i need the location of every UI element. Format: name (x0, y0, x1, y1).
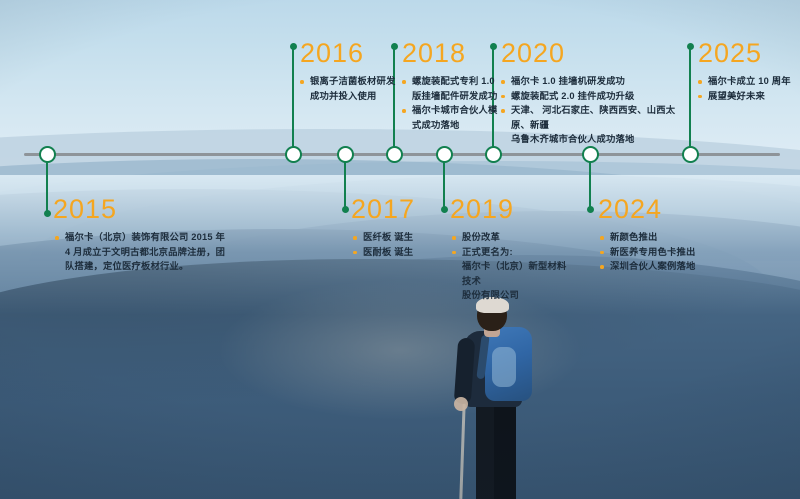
hiker-figure (432, 294, 562, 499)
hiker-hand (454, 397, 468, 411)
timeline-year-label: 2018 (402, 40, 512, 67)
timeline-stem-dot (342, 206, 349, 213)
timeline-bullet-list: 螺旋装配式专利 1.0 版挂墙配件研发成功福尔卡城市合伙人模 式成功落地 (402, 74, 512, 132)
timeline-year-label: 2017 (351, 196, 443, 223)
timeline-bullet-list: 新颜色推出新医养专用色卡推出深圳合伙人案例落地 (600, 230, 730, 274)
timeline-bullet: 福尔卡（北京）装饰有限公司 2015 年 4 月成立于文明古都北京品牌注册，团 … (55, 230, 230, 274)
timeline-stem-dot (687, 43, 694, 50)
timeline-entry-2018: 2018螺旋装配式专利 1.0 版挂墙配件研发成功福尔卡城市合伙人模 式成功落地 (402, 40, 512, 132)
timeline-bullet: 新医养专用色卡推出 (600, 245, 730, 260)
timeline-bullet: 正式更名为: 福尔卡（北京）新型材料技术 股份有限公司 (452, 245, 567, 303)
timeline-year-label: 2025 (698, 40, 800, 67)
timeline-year-label: 2015 (53, 196, 230, 223)
timeline-entry-2019: 2019股份改革正式更名为: 福尔卡（北京）新型材料技术 股份有限公司 (452, 196, 567, 303)
timeline-stem-dot (290, 43, 297, 50)
timeline-stem (292, 46, 295, 153)
timeline-node-2019[interactable] (436, 146, 453, 163)
timeline-bullet-list: 福尔卡 1.0 挂墙机研发成功螺旋装配式 2.0 挂件成功升级天津、 河北石家庄… (501, 74, 681, 147)
timeline-bullet: 福尔卡 1.0 挂墙机研发成功 (501, 74, 681, 89)
timeline-node-2025[interactable] (682, 146, 699, 163)
timeline-entry-2016: 2016银离子洁菌板材研发 成功并投入使用 (300, 40, 410, 103)
timeline-stem-dot (44, 210, 51, 217)
timeline-bullet: 展望美好未来 (698, 89, 800, 104)
timeline-bullet: 银离子洁菌板材研发 成功并投入使用 (300, 74, 410, 103)
timeline-bullet-list: 股份改革正式更名为: 福尔卡（北京）新型材料技术 股份有限公司 (452, 230, 567, 303)
timeline-bullet-list: 福尔卡（北京）装饰有限公司 2015 年 4 月成立于文明古都北京品牌注册，团 … (55, 230, 230, 274)
timeline-bullet: 螺旋装配式 2.0 挂件成功升级 (501, 89, 681, 104)
timeline-stem-dot (587, 206, 594, 213)
timeline-node-2016[interactable] (285, 146, 302, 163)
timeline-bullet: 福尔卡城市合伙人模 式成功落地 (402, 103, 512, 132)
timeline-bullet: 螺旋装配式专利 1.0 版挂墙配件研发成功 (402, 74, 512, 103)
timeline-node-2018[interactable] (386, 146, 403, 163)
trekking-pole (459, 403, 465, 499)
timeline-bullet: 深圳合伙人案例落地 (600, 259, 730, 274)
timeline-bullet: 股份改革 (452, 230, 567, 245)
timeline-entry-2020: 2020福尔卡 1.0 挂墙机研发成功螺旋装配式 2.0 挂件成功升级天津、 河… (501, 40, 681, 147)
timeline-bullet: 医耐板 诞生 (353, 245, 443, 260)
timeline-entry-2025: 2025福尔卡成立 10 周年展望美好未来 (698, 40, 800, 103)
backpack-panel (492, 347, 516, 387)
timeline-year-label: 2020 (501, 40, 681, 67)
timeline-bullet-list: 医纤板 诞生医耐板 诞生 (353, 230, 443, 259)
timeline-bullet-list: 福尔卡成立 10 周年展望美好未来 (698, 74, 800, 103)
timeline-year-label: 2024 (598, 196, 730, 223)
timeline-stem (689, 46, 692, 153)
timeline-node-2017[interactable] (337, 146, 354, 163)
timeline-entry-2015: 2015福尔卡（北京）装饰有限公司 2015 年 4 月成立于文明古都北京品牌注… (55, 196, 230, 274)
timeline-bullet: 福尔卡成立 10 周年 (698, 74, 800, 89)
timeline-entry-2024: 2024新颜色推出新医养专用色卡推出深圳合伙人案例落地 (600, 196, 730, 274)
timeline-node-2020[interactable] (485, 146, 502, 163)
timeline-bullet: 天津、 河北石家庄、陕西西安、山西太原、新疆 乌鲁木齐城市合伙人成功落地 (501, 103, 681, 147)
timeline-node-2015[interactable] (39, 146, 56, 163)
timeline-entry-2017: 2017医纤板 诞生医耐板 诞生 (353, 196, 443, 259)
timeline-bullet: 医纤板 诞生 (353, 230, 443, 245)
timeline-bullet: 新颜色推出 (600, 230, 730, 245)
timeline-bullet-list: 银离子洁菌板材研发 成功并投入使用 (300, 74, 410, 103)
timeline-year-label: 2019 (450, 196, 567, 223)
timeline-node-2024[interactable] (582, 146, 599, 163)
timeline-year-label: 2016 (300, 40, 410, 67)
timeline-infographic: 2015福尔卡（北京）装饰有限公司 2015 年 4 月成立于文明古都北京品牌注… (0, 0, 800, 499)
foreground-mountain (0, 259, 800, 499)
